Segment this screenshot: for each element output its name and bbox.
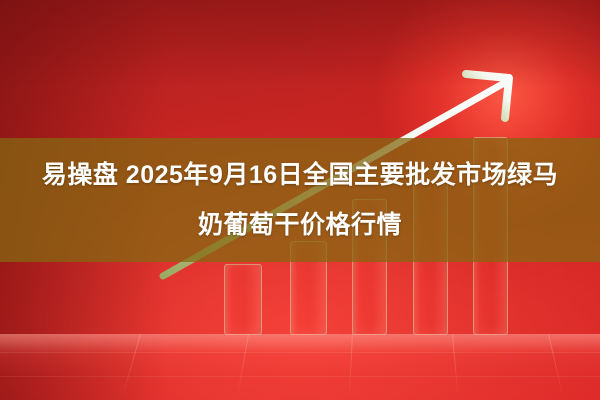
title-line-1: 易操盘 2025年9月16日全国主要批发市场绿马 (42, 150, 558, 200)
floor-gridline-h (0, 376, 600, 377)
floor-sheen (0, 334, 600, 354)
banner-image: 易操盘 2025年9月16日全国主要批发市场绿马 奶葡萄干价格行情 (0, 0, 600, 400)
title-line-2: 奶葡萄干价格行情 (198, 200, 402, 250)
chart-bar-1 (224, 264, 262, 335)
title-band: 易操盘 2025年9月16日全国主要批发市场绿马 奶葡萄干价格行情 (0, 138, 600, 262)
perspective-floor (0, 334, 600, 400)
floor-gridline-h (0, 352, 600, 353)
